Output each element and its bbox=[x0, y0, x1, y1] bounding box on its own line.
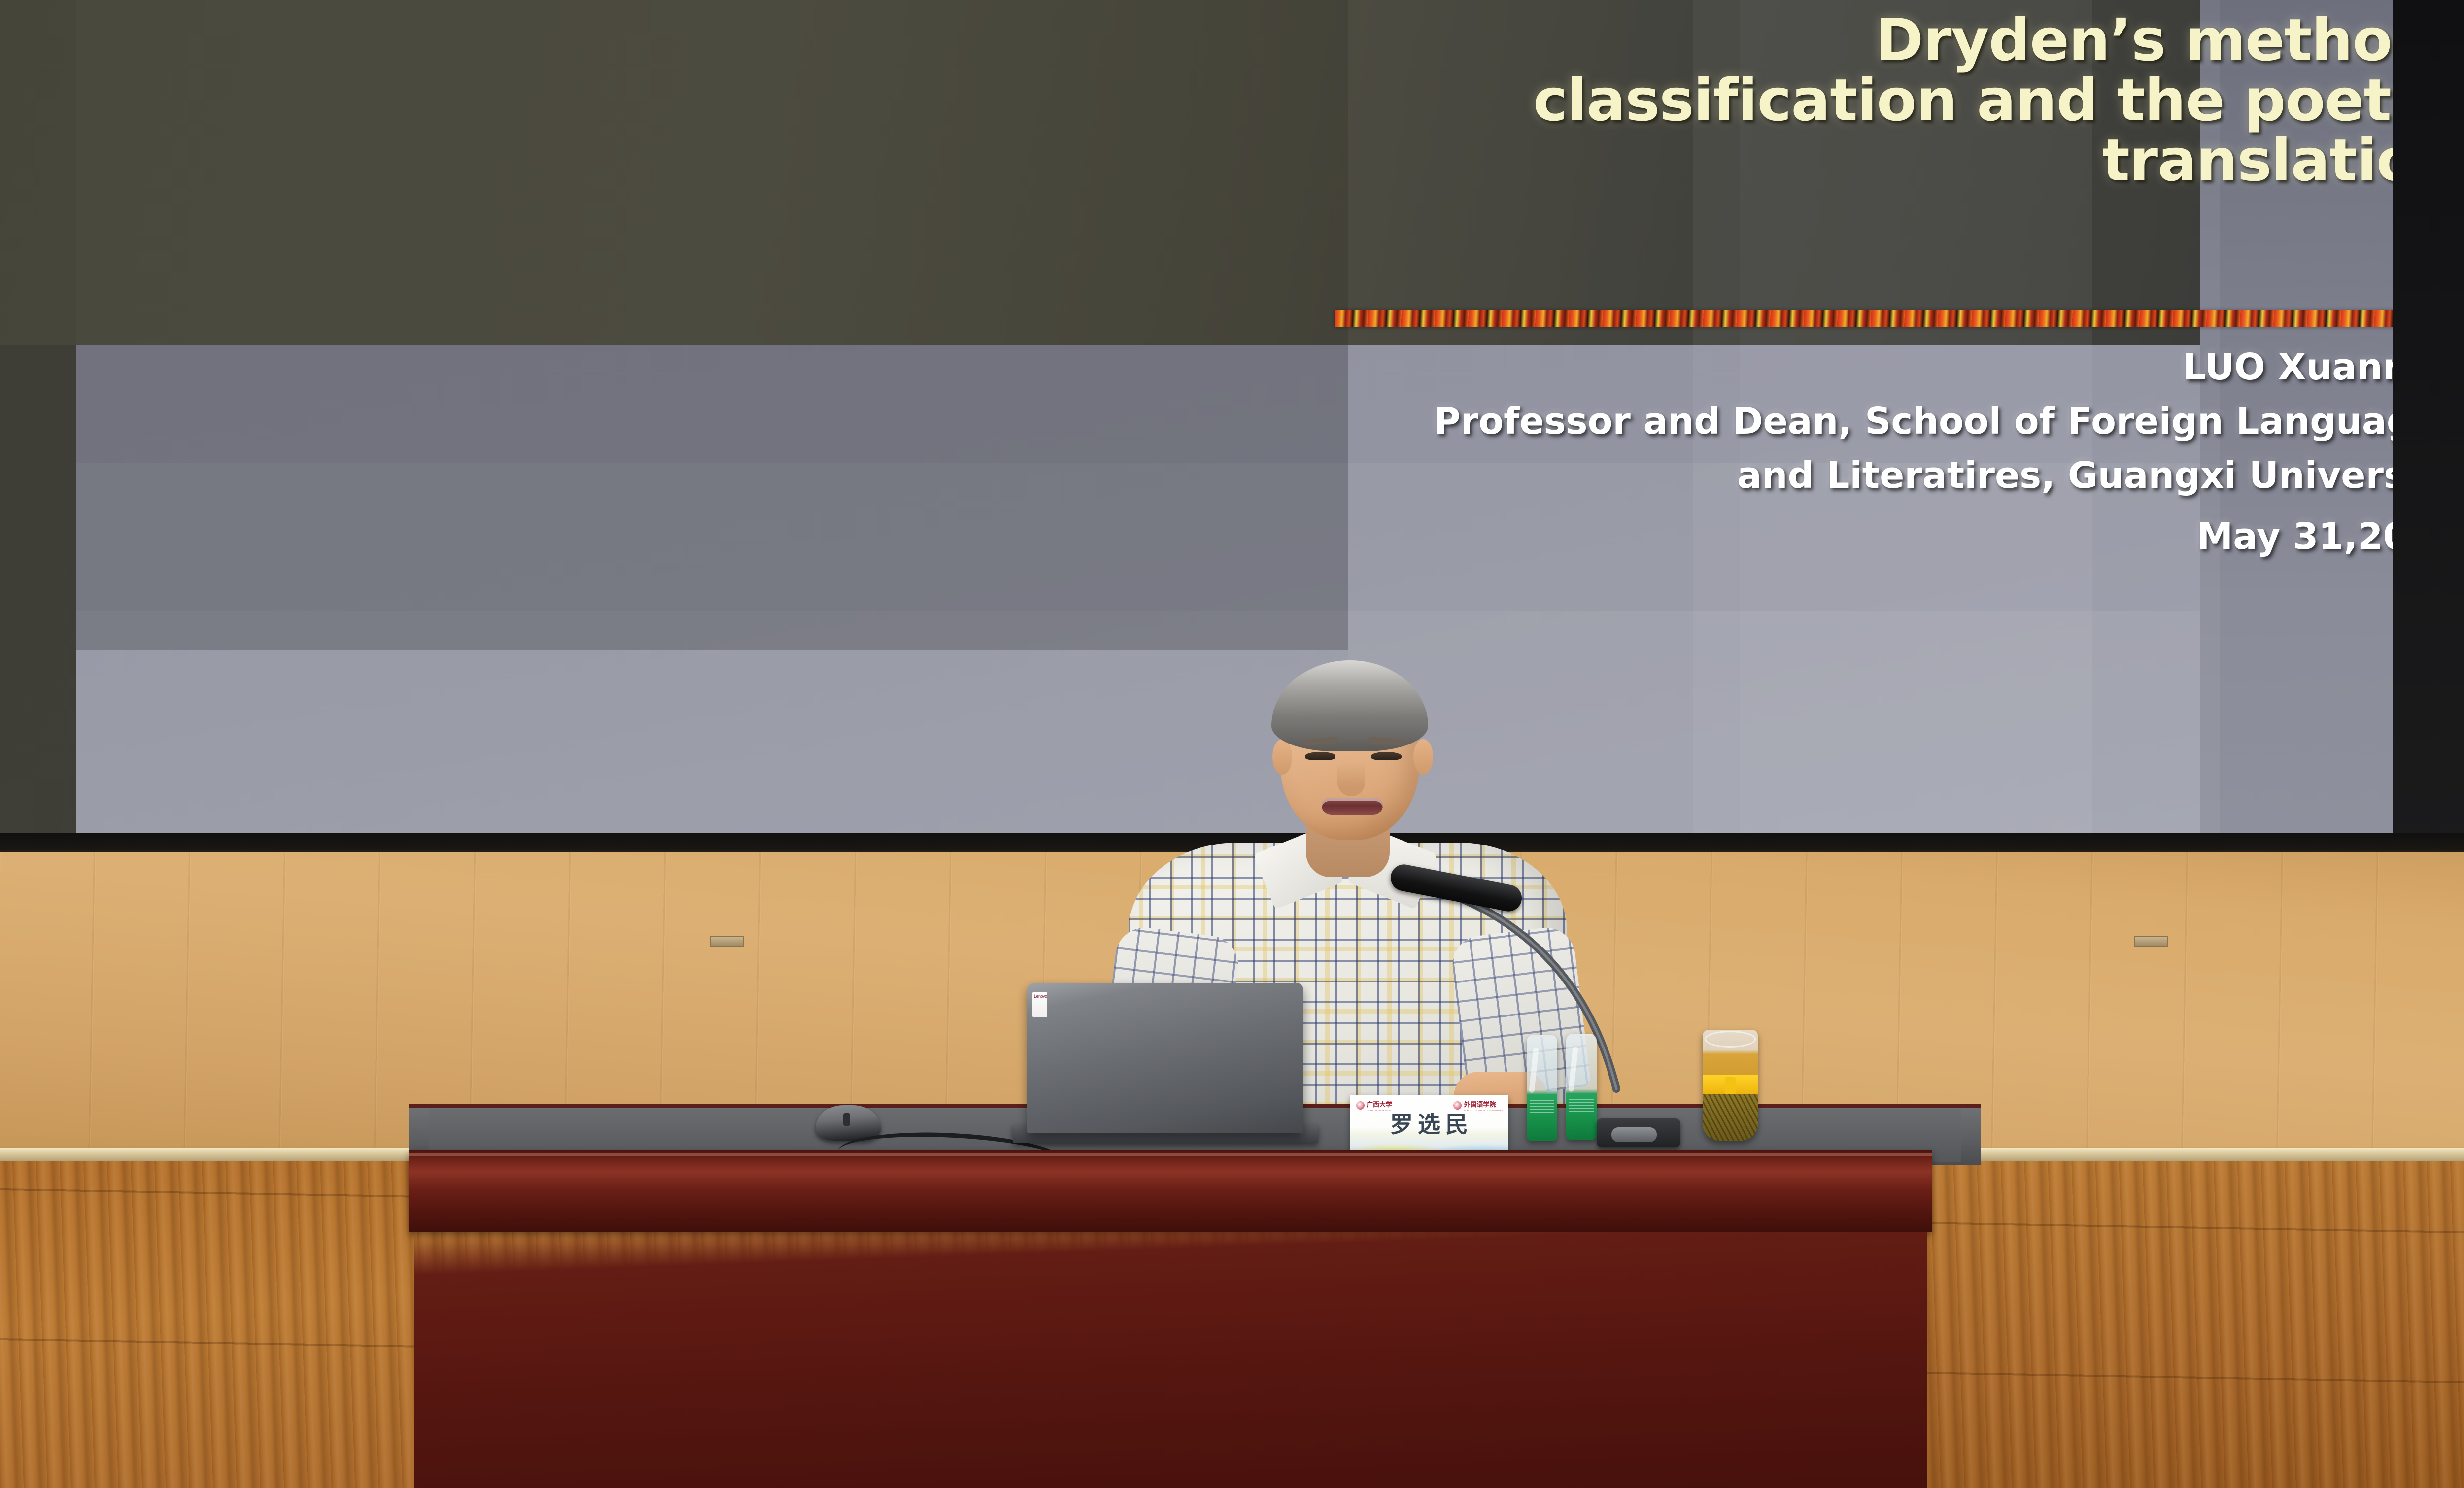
name-plate: 广西大学 GUANGXI UNIVERSITY 外国语学院 SCHOOL OF … bbox=[1350, 1095, 1508, 1150]
computer-mouse[interactable] bbox=[816, 1105, 881, 1141]
speaker-ear-right bbox=[1413, 739, 1433, 775]
name-plate-name: 罗选民 bbox=[1350, 1113, 1508, 1136]
bottle-highlight-1 bbox=[1529, 1048, 1539, 1093]
podium-body bbox=[414, 1232, 1927, 1488]
slide-title-line-3: translation bbox=[2102, 126, 2393, 194]
speaker-eye-left bbox=[1305, 752, 1335, 760]
name-plate-logo-left-en: GUANGXI UNIVERSITY bbox=[1367, 1109, 1392, 1112]
bottle-cap-2 bbox=[1569, 1034, 1594, 1036]
bottle-highlight-2 bbox=[1568, 1047, 1578, 1092]
slide-title-line-1: Dryden’s method- bbox=[1875, 6, 2393, 74]
slide-title-line-2: classification and the poetry bbox=[1533, 66, 2393, 134]
tea-jar-leaves bbox=[1703, 1094, 1758, 1141]
podium bbox=[409, 1150, 1932, 1488]
school-seal-icon bbox=[1453, 1101, 1462, 1110]
laptop-brand-label: Lenovo bbox=[1034, 994, 1047, 999]
speaker-ear-left bbox=[1272, 739, 1292, 775]
name-plate-logo-left: 广西大学 GUANGXI UNIVERSITY bbox=[1356, 1099, 1392, 1112]
lecture-hall-scene: Dryden’s method- classification and the … bbox=[0, 0, 2464, 1488]
slide-accent-strip bbox=[1335, 310, 2393, 327]
floor-socket-right bbox=[2134, 936, 2168, 947]
floor-socket-left bbox=[710, 936, 744, 947]
speaker-nose bbox=[1337, 763, 1365, 796]
slide-date: May 31,2022 bbox=[520, 509, 2393, 564]
speaker-hair bbox=[1271, 660, 1428, 751]
bottle-label-1 bbox=[1527, 1094, 1557, 1141]
microphone-connector bbox=[1611, 1127, 1657, 1142]
speaker-eye-right bbox=[1371, 752, 1402, 760]
bottle-cap-1 bbox=[1530, 1035, 1554, 1037]
water-bottle-2[interactable] bbox=[1566, 1034, 1597, 1140]
back-wall-right-dark bbox=[2388, 0, 2464, 857]
laptop-lid[interactable]: Lenovo bbox=[1027, 983, 1303, 1133]
university-seal-icon bbox=[1356, 1101, 1365, 1110]
slide-presenter-name: LUO Xuanmin bbox=[520, 340, 2393, 394]
name-plate-logo-left-cn: 广西大学 bbox=[1367, 1101, 1392, 1109]
bottle-label-2 bbox=[1566, 1093, 1597, 1140]
name-plate-logo-right-cn: 外国语学院 bbox=[1464, 1101, 1496, 1109]
water-bottle-1[interactable] bbox=[1527, 1035, 1557, 1141]
name-plate-logo-right: 外国语学院 SCHOOL OF FOREIGN LANGUAGES bbox=[1453, 1099, 1503, 1112]
podium-top-rail bbox=[409, 1150, 1932, 1232]
slide-subtitle-block: LUO Xuanmin Professor and Dean, School o… bbox=[520, 340, 2393, 564]
speaker-mouth bbox=[1322, 798, 1383, 815]
tea-jar-rim bbox=[1705, 1031, 1756, 1048]
slide-title: Dryden’s method- classification and the … bbox=[520, 10, 2393, 190]
laptop-brand-sticker: Lenovo bbox=[1032, 992, 1047, 1017]
slide-affiliation-line-1: Professor and Dean, School of Foreign La… bbox=[520, 394, 2393, 448]
slide-affiliation-line-2: and Literatires, Guangxi University bbox=[520, 448, 2393, 503]
tea-jar[interactable] bbox=[1703, 1030, 1758, 1141]
